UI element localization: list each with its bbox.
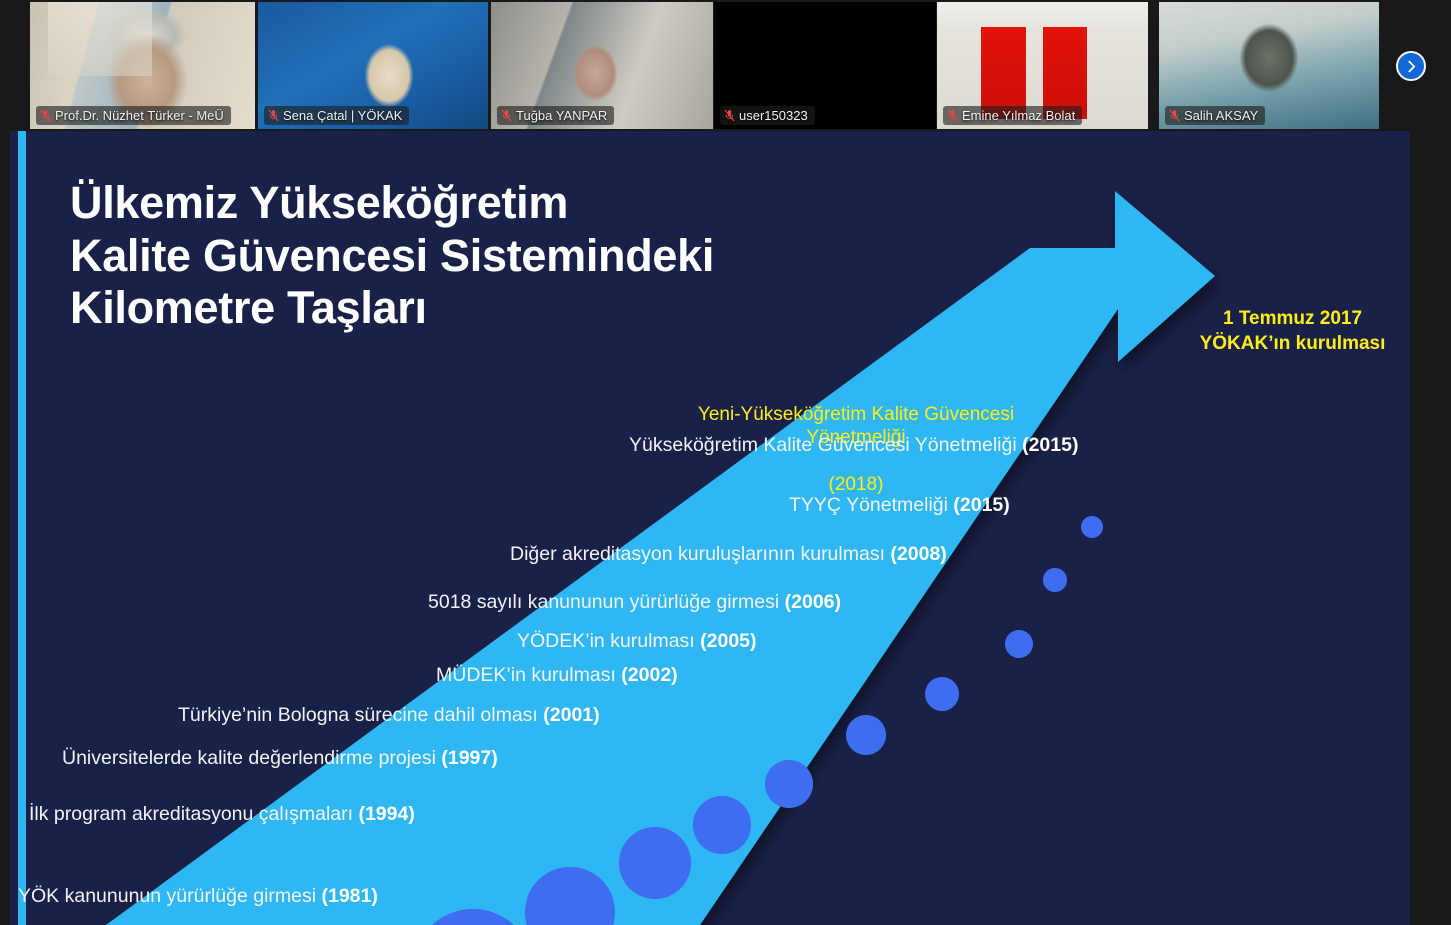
participant-name-badge: Prof.Dr. Nüzhet Türker - MeÜ bbox=[36, 106, 231, 125]
milestone-label: Üniversitelerde kalite değerlendirme pro… bbox=[62, 747, 436, 769]
milestone-year: (2001) bbox=[543, 704, 599, 726]
milestone-label: 5018 sayılı kanununun yürürlüğe girmesi bbox=[428, 591, 779, 613]
milestone-year: (2015) bbox=[1022, 434, 1078, 456]
milestone-label: Yükseköğretim Kalite Güvencesi Yönetmeli… bbox=[629, 434, 1017, 456]
participant-tile-2[interactable]: Tuğba YANPAR bbox=[491, 2, 713, 129]
milestone-2001: Türkiye’nin Bologna sürecine dahil olmas… bbox=[178, 704, 600, 728]
milestone-2006: 5018 sayılı kanununun yürürlüğe girmesi … bbox=[428, 591, 841, 615]
milestone-year: (2008) bbox=[890, 543, 946, 565]
milestone-year: (2002) bbox=[621, 664, 677, 686]
next-participants-button[interactable] bbox=[1396, 51, 1426, 81]
milestone-2015-tyyc: TYYÇ Yönetmeliği (2015) bbox=[789, 494, 1010, 518]
milestone-2005: YÖDEK’in kurulması (2005) bbox=[517, 630, 757, 654]
milestone-year: (2006) bbox=[785, 591, 841, 613]
participant-filmstrip: Prof.Dr. Nüzhet Türker - MeÜ Sena Çatal … bbox=[0, 0, 1451, 131]
milestone-year: (1981) bbox=[322, 885, 378, 907]
milestone-year: (2018) bbox=[829, 474, 884, 495]
participant-tile-4[interactable]: Emine Yılmaz Bolat bbox=[937, 2, 1148, 129]
participant-tile-3[interactable]: user150323 bbox=[714, 2, 936, 129]
participant-name: user150323 bbox=[739, 108, 808, 123]
microphone-muted-icon bbox=[268, 109, 279, 122]
participant-tile-0[interactable]: Prof.Dr. Nüzhet Türker - MeÜ bbox=[30, 2, 255, 129]
participant-tile-1[interactable]: Sena Çatal | YÖKAK bbox=[258, 2, 488, 129]
participant-name: Tuğba YANPAR bbox=[516, 108, 607, 123]
milestone-year: (2015) bbox=[953, 494, 1009, 516]
chevron-right-icon bbox=[1405, 60, 1418, 73]
participant-name: Prof.Dr. Nüzhet Türker - MeÜ bbox=[55, 108, 224, 123]
microphone-muted-icon bbox=[724, 109, 735, 122]
slide-title: Ülkemiz Yükseköğretim Kalite Güvencesi S… bbox=[70, 177, 830, 335]
milestone-2002: MÜDEK’in kurulması (2002) bbox=[436, 664, 678, 688]
milestone-label: TYYÇ Yönetmeliği bbox=[789, 494, 948, 516]
shared-slide: Ülkemiz Yükseköğretim Kalite Güvencesi S… bbox=[10, 131, 1410, 925]
milestone-label: İlk program akreditasyonu çalışmaları bbox=[29, 803, 353, 825]
microphone-muted-icon bbox=[501, 109, 512, 122]
milestone-label: YÖK kanununun yürürlüğe girmesi bbox=[18, 885, 322, 907]
milestone-year: (1994) bbox=[358, 803, 414, 825]
milestone-year: (2005) bbox=[700, 630, 756, 652]
participant-name-badge: Emine Yılmaz Bolat bbox=[943, 106, 1082, 125]
participant-name: Sena Çatal | YÖKAK bbox=[283, 108, 402, 123]
milestone-label: Diğer akreditasyon kuruluşlarının kurulm… bbox=[510, 543, 885, 565]
microphone-muted-icon bbox=[1169, 109, 1180, 122]
participant-name-badge: Sena Çatal | YÖKAK bbox=[264, 106, 409, 125]
milestone-label: Türkiye’nin Bologna sürecine dahil olmas… bbox=[178, 704, 538, 726]
milestone-label: YÖDEK’in kurulması bbox=[517, 630, 695, 652]
participant-name-badge: user150323 bbox=[720, 106, 815, 125]
milestone-2008: Diğer akreditasyon kuruluşlarının kurulm… bbox=[510, 543, 947, 567]
milestone-year: (1997) bbox=[441, 747, 497, 769]
participant-tile-5[interactable]: Salih AKSAY bbox=[1159, 2, 1379, 129]
yokak-callout: 1 Temmuz 2017 YÖKAK’ın kurulması bbox=[1185, 306, 1400, 357]
participant-name-badge: Salih AKSAY bbox=[1165, 106, 1265, 125]
milestone-1997: Üniversitelerde kalite değerlendirme pro… bbox=[62, 747, 498, 771]
microphone-muted-icon bbox=[40, 109, 51, 122]
milestone-label: MÜDEK’in kurulması bbox=[436, 664, 616, 686]
participant-name-badge: Tuğba YANPAR bbox=[497, 106, 614, 125]
zoom-screen-share-window: Prof.Dr. Nüzhet Türker - MeÜ Sena Çatal … bbox=[0, 0, 1451, 925]
milestone-1994: İlk program akreditasyonu çalışmaları (1… bbox=[29, 803, 415, 827]
participant-name: Emine Yılmaz Bolat bbox=[962, 108, 1075, 123]
participant-name: Salih AKSAY bbox=[1184, 108, 1258, 123]
microphone-muted-icon bbox=[947, 109, 958, 122]
milestone-2015-yks: Yükseköğretim Kalite Güvencesi Yönetmeli… bbox=[629, 434, 1078, 458]
milestone-1981: YÖK kanununun yürürlüğe girmesi (1981) bbox=[18, 885, 378, 909]
